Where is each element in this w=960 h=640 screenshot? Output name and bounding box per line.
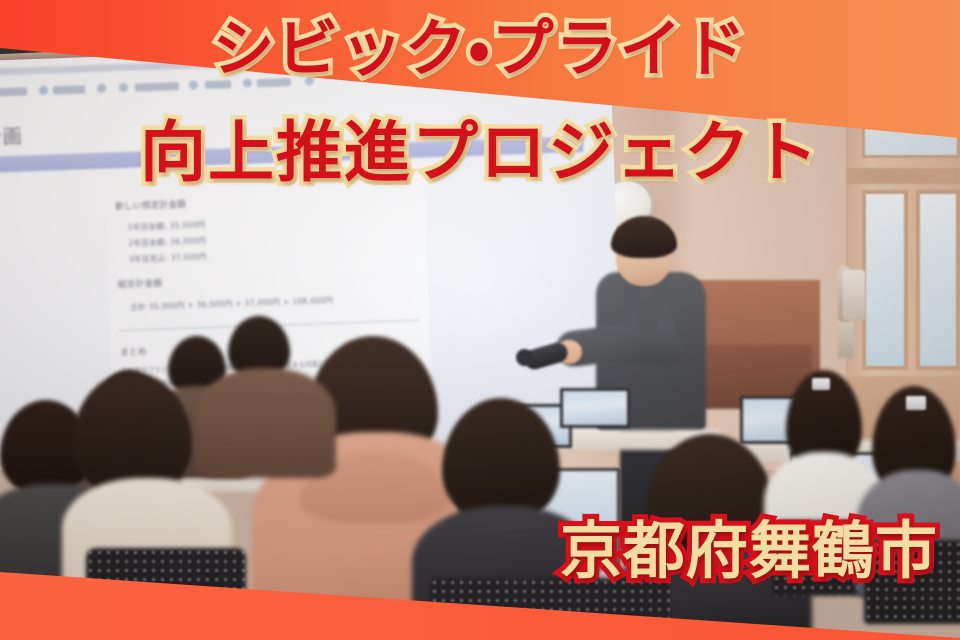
monitor: [560, 388, 630, 428]
doc-heading-3: まとめ: [120, 345, 147, 358]
headline-line-1: シビック・プライド: [0, 18, 960, 80]
city-label: 京都府舞鶴市: [560, 520, 938, 582]
doc-heading-2: 総合計金額: [118, 277, 163, 291]
door-glass-pane-right: [916, 190, 960, 370]
hair-clip: [906, 396, 926, 410]
hair-clip: [812, 378, 830, 390]
door-glass-pane-left: [862, 190, 908, 370]
doc-list-item: 合計 35,000円 + 36,000円 + 37,000円 = 108,000…: [130, 295, 333, 313]
audience-body: [196, 368, 336, 478]
doc-list-item: 3年目見込: 37,000円: [129, 251, 207, 265]
doc-list-item: 1年目金額: 35,000円: [128, 219, 206, 233]
doc-list-item: 2年目金額: 36,000円: [128, 235, 206, 249]
microphone-head: [516, 349, 533, 366]
headline-line-2: 向上推進プロジェクト: [0, 120, 960, 186]
wall-telephone-plate: [838, 322, 854, 358]
doc-heading-1: 新しい想定計金額: [115, 198, 187, 212]
wall-telephone-body: [843, 270, 865, 320]
promo-banner-image: の計画 新しい想定計金額 1年目金額: 35,000円 2年目金額: 36,00…: [0, 0, 960, 640]
